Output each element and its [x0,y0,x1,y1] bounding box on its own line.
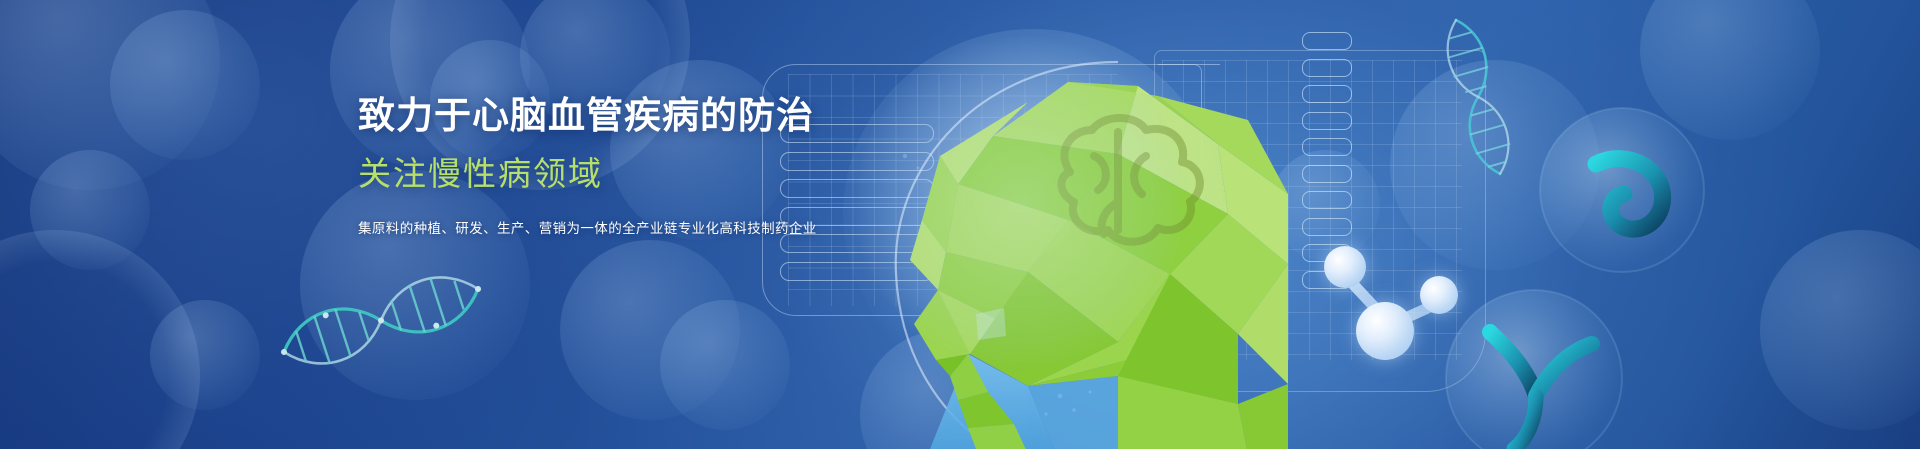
hud-capsule [1302,218,1352,236]
bacteria-cell-top-right [1540,108,1704,272]
hud-capsule [1302,32,1352,50]
molecule-node [1420,276,1458,314]
hud-capsule [1302,191,1352,209]
molecule-node [1324,246,1366,288]
molecule-diagram [1318,240,1468,375]
bokeh-circle [560,240,740,420]
bokeh-circle [660,300,790,430]
bokeh-ring [0,230,200,449]
hud-capsule [1302,85,1352,103]
hud-capsule [1302,112,1352,130]
page-tagline: 集原料的种植、研发、生产、营销为一体的全产业链专业化高科技制药企业 [358,217,788,237]
head-glow [856,38,1186,368]
bokeh-circle [0,0,220,190]
hero-banner: 致力于心脑血管疾病的防治 关注慢性病领域 集原料的种植、研发、生产、营销为一体的… [0,0,1920,449]
dna-helix-left [273,264,488,377]
bokeh-circle [30,150,150,270]
page-title: 致力于心脑血管疾病的防治 [358,94,788,138]
hud-capsule [1302,138,1352,156]
hud-capsule [1302,59,1352,77]
low-poly-human-head-profile [818,24,1288,449]
bokeh-circle [150,300,260,410]
molecule-node [1356,302,1414,360]
bokeh-circle [110,10,260,160]
hud-capsule [1302,165,1352,183]
page-subtitle: 关注慢性病领域 [358,147,788,195]
bokeh-circle [1640,0,1820,140]
hero-copy: 致力于心脑血管疾病的防治 关注慢性病领域 集原料的种植、研发、生产、营销为一体的… [358,94,788,237]
bokeh-circle [1760,230,1920,430]
